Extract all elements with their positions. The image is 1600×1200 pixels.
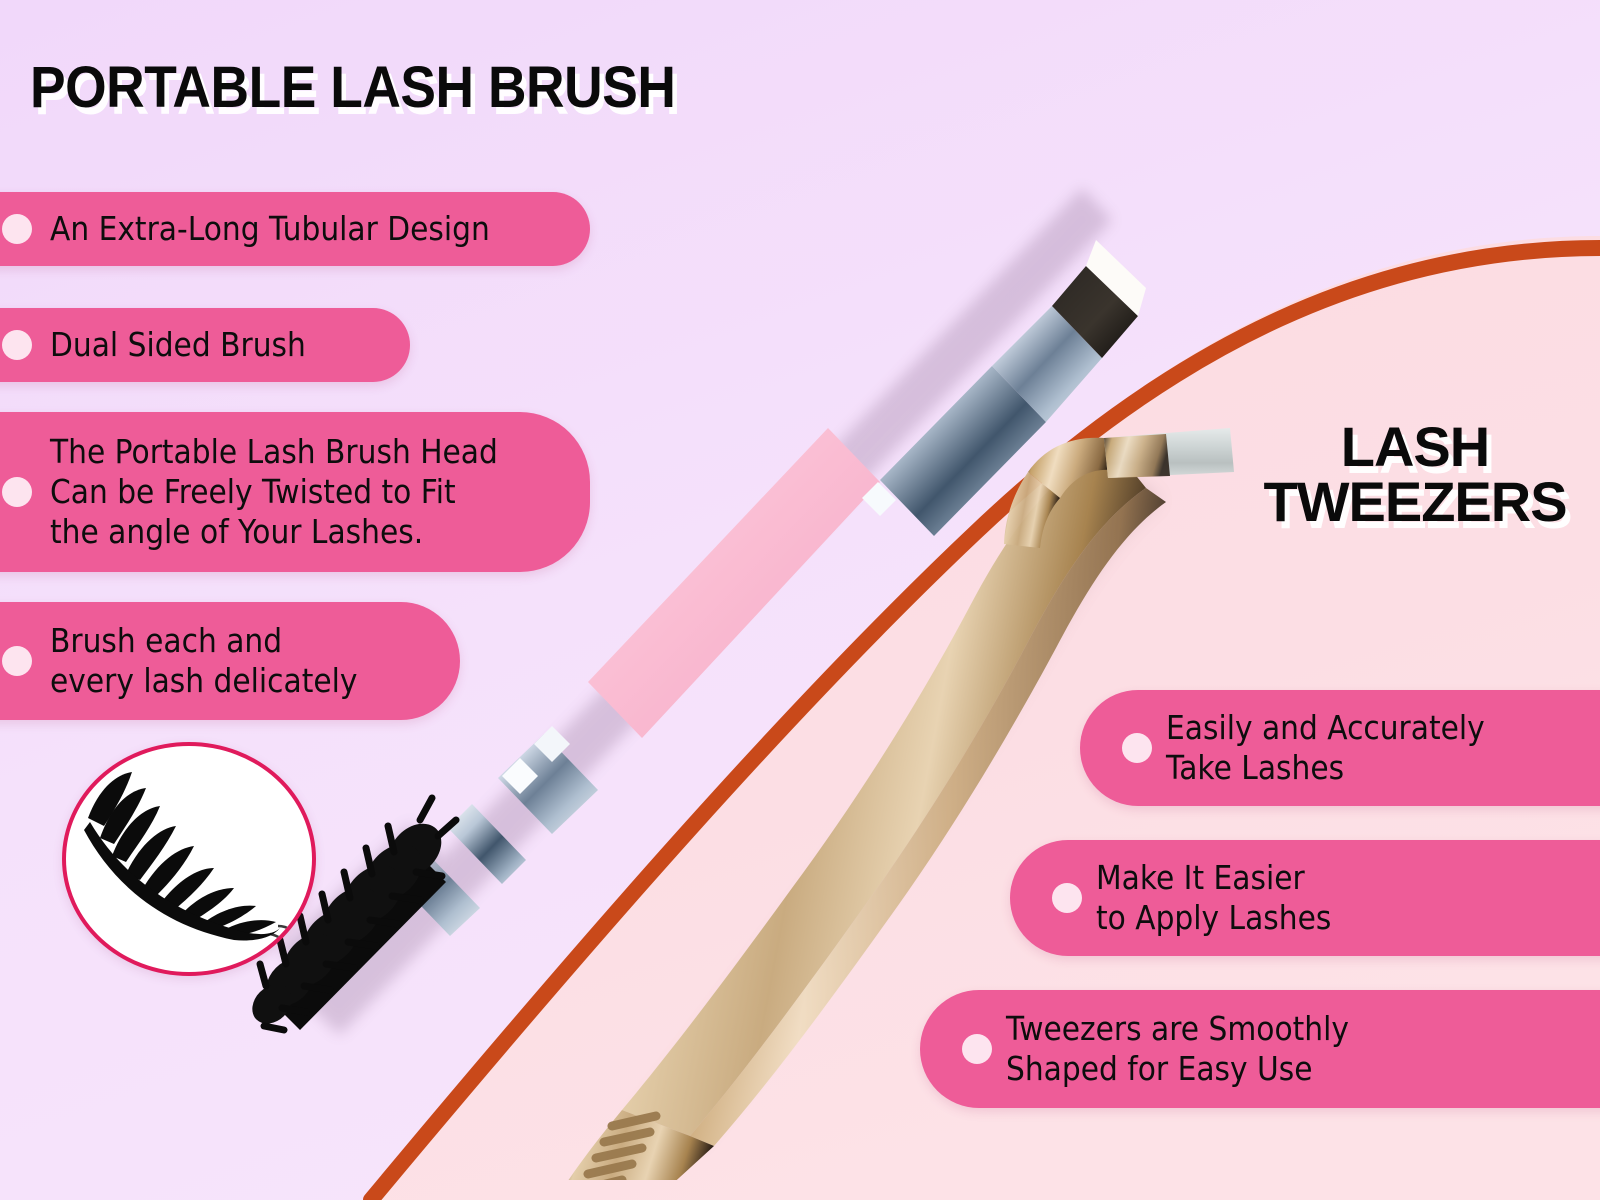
tweezer-collar [1104, 434, 1170, 478]
feature-pill-brush-1[interactable]: An Extra-Long Tubular Design [0, 192, 590, 266]
bullet-dot-icon [1052, 883, 1082, 913]
feature-text: Brush each and every lash delicately [50, 621, 357, 702]
bullet-dot-icon [962, 1034, 992, 1064]
feature-pill-brush-2[interactable]: Dual Sided Brush [0, 308, 410, 382]
bullet-dot-icon [2, 477, 32, 507]
feature-pill-brush-4[interactable]: Brush each and every lash delicately [0, 602, 460, 720]
bullet-dot-icon [2, 214, 32, 244]
page-title: PORTABLE LASH BRUSH [30, 54, 675, 121]
tweezers-section-title: LASH TWEEZERS [1245, 420, 1585, 530]
feature-text: The Portable Lash Brush Head Can be Free… [50, 432, 498, 553]
feature-text: Make It Easier to Apply Lashes [1096, 858, 1331, 939]
feature-text: Tweezers are Smoothly Shaped for Easy Us… [1006, 1009, 1349, 1090]
feature-pill-tweezers-2[interactable]: Make It Easier to Apply Lashes [1010, 840, 1600, 956]
feature-text: An Extra-Long Tubular Design [50, 209, 490, 249]
feature-pill-tweezers-1[interactable]: Easily and Accurately Take Lashes [1080, 690, 1600, 806]
bullet-dot-icon [1122, 733, 1152, 763]
bullet-dot-icon [2, 330, 32, 360]
feature-text: Easily and Accurately Take Lashes [1166, 708, 1485, 789]
infographic-canvas: PORTABLE LASH BRUSH LASH TWEEZERS An Ext… [0, 0, 1600, 1200]
bullet-dot-icon [2, 646, 32, 676]
feature-pill-tweezers-3[interactable]: Tweezers are Smoothly Shaped for Easy Us… [920, 990, 1600, 1108]
feature-pill-brush-3[interactable]: The Portable Lash Brush Head Can be Free… [0, 412, 590, 572]
tweezers-title-line-2: TWEEZERS [1245, 475, 1585, 530]
false-lash-inset [62, 742, 316, 976]
feature-text: Dual Sided Brush [50, 325, 306, 365]
false-lash-strip-icon [66, 746, 312, 972]
tweezers-title-line-1: LASH [1245, 420, 1585, 475]
